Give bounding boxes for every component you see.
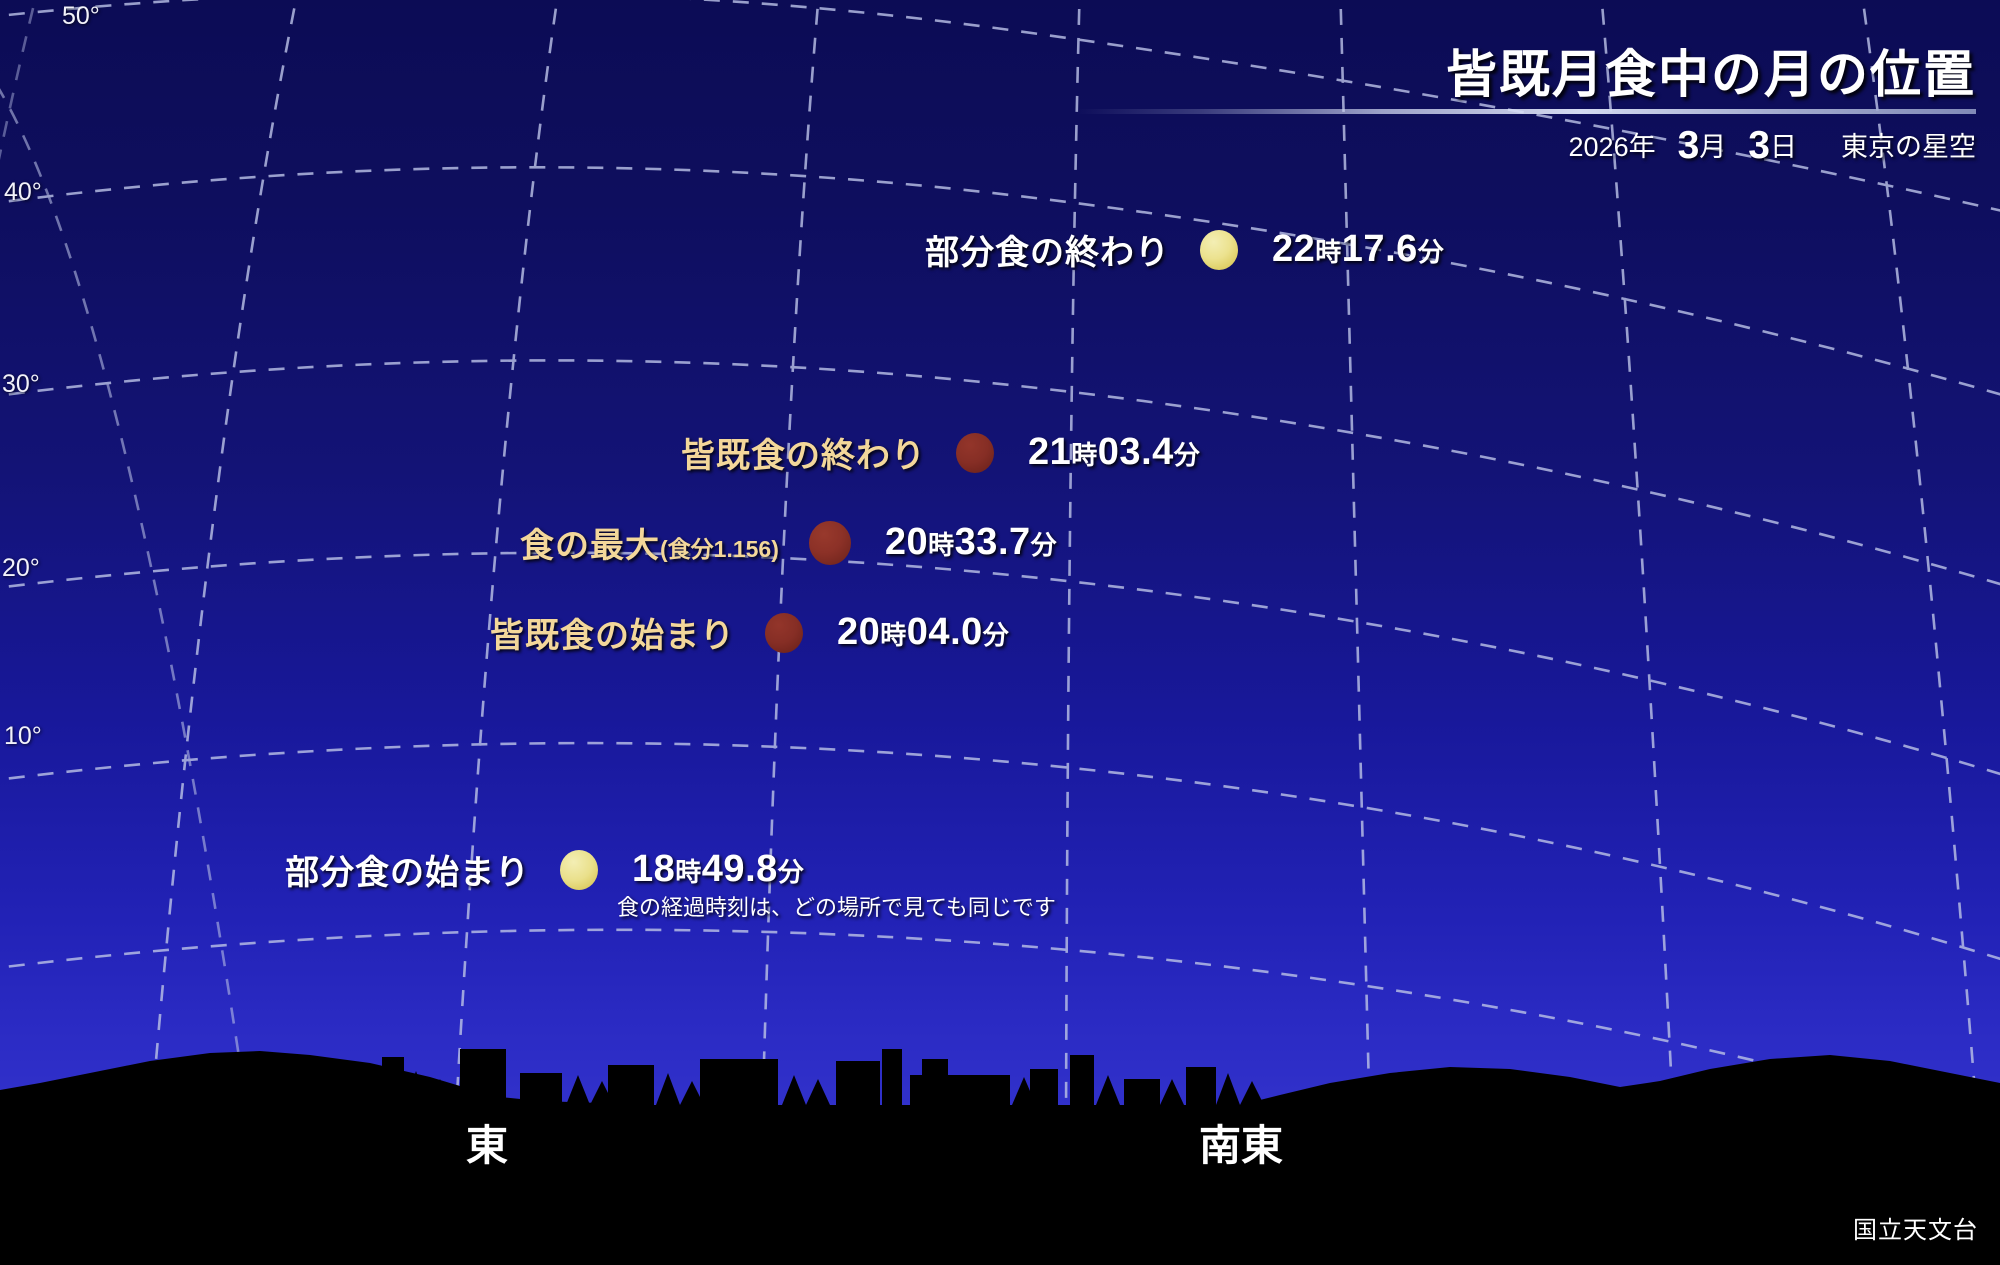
event-time: 20時33.7分 [885, 521, 1057, 564]
horizon-silhouette [0, 1035, 2000, 1265]
altitude-tick-40: 40° [4, 178, 42, 207]
timing-note: 食の経過時刻は、どの場所で見ても同じです [617, 890, 1056, 922]
altitude-tick-20: 20° [2, 554, 40, 583]
title-divider [1076, 109, 1976, 114]
event-label: 皆既食の終わり [681, 428, 926, 477]
event-minute-unit: 分 [983, 620, 1010, 650]
direction-label-southeast: 南東 [1199, 1112, 1283, 1173]
event-time: 20時04.0分 [837, 611, 1009, 654]
event-hour: 22 [1272, 228, 1315, 270]
event-hour-unit: 時 [675, 857, 702, 887]
altitude-tick-50: 50° [62, 2, 100, 31]
event-label-magnitude: (食分1.156) [660, 536, 779, 562]
event-row-partial-start: 部分食の始まり 18時49.8分 [285, 845, 804, 894]
eclipsed-moon-icon [809, 521, 851, 565]
event-row-totality-start: 皆既食の始まり 20時04.0分 [490, 608, 1009, 657]
event-hour-unit: 時 [928, 530, 955, 560]
subtitle-month-unit: 月 [1699, 132, 1726, 162]
subtitle-day-unit: 日 [1770, 132, 1797, 162]
event-hour: 20 [837, 611, 880, 653]
event-minute: 04.0 [907, 611, 983, 653]
subtitle-year: 2026年 [1569, 132, 1656, 162]
eclipsed-moon-icon [956, 433, 994, 473]
event-label: 食の最大(食分1.156) [520, 518, 779, 567]
altitude-tick-10: 10° [4, 722, 42, 751]
event-minute-unit: 分 [1031, 530, 1058, 560]
event-time: 18時49.8分 [632, 848, 804, 891]
page-title: 皆既月食中の月の位置 [1056, 48, 1976, 102]
full-moon-icon [560, 850, 598, 890]
event-minute: 03.4 [1098, 431, 1174, 473]
credit-label: 国立天文台 [1853, 1210, 1978, 1245]
event-label-main: 食の最大 [520, 527, 660, 565]
event-minute: 49.8 [702, 848, 778, 890]
event-row-partial-end: 部分食の終わり 22時17.6分 [925, 225, 1444, 274]
horizon-shape [0, 1035, 2000, 1265]
event-label: 皆既食の始まり [490, 608, 735, 657]
event-hour: 20 [885, 521, 928, 563]
eclipse-sky-chart: 50° 40° 30° 20° 10° 皆既月食中の月の位置 2026年3月3日… [0, 0, 2000, 1265]
event-label: 部分食の終わり [925, 225, 1170, 274]
event-label: 部分食の始まり [285, 845, 530, 894]
event-minute-unit: 分 [1418, 237, 1445, 267]
event-time: 22時17.6分 [1272, 228, 1444, 271]
direction-label-east: 東 [466, 1112, 508, 1173]
event-minute: 33.7 [955, 521, 1031, 563]
subtitle-location: 東京の星空 [1841, 132, 1976, 162]
event-row-totality-end: 皆既食の終わり 21時03.4分 [681, 428, 1200, 477]
full-moon-icon [1200, 230, 1238, 270]
event-row-maximum: 食の最大(食分1.156) 20時33.7分 [520, 518, 1057, 567]
event-minute-unit: 分 [1174, 440, 1201, 470]
event-hour: 18 [632, 848, 675, 890]
event-hour: 21 [1028, 431, 1071, 473]
subtitle: 2026年3月3日東京の星空 [1056, 125, 1976, 168]
event-hour-unit: 時 [1071, 440, 1098, 470]
event-hour-unit: 時 [880, 620, 907, 650]
event-minute-unit: 分 [778, 857, 805, 887]
event-hour-unit: 時 [1315, 237, 1342, 267]
event-time: 21時03.4分 [1028, 431, 1200, 474]
subtitle-day-value: 3 [1748, 124, 1770, 167]
subtitle-month-value: 3 [1678, 124, 1700, 167]
event-minute: 17.6 [1342, 228, 1418, 270]
title-block: 皆既月食中の月の位置 2026年3月3日東京の星空 [1056, 48, 1976, 167]
eclipsed-moon-icon [765, 613, 803, 653]
altitude-tick-30: 30° [2, 370, 40, 399]
